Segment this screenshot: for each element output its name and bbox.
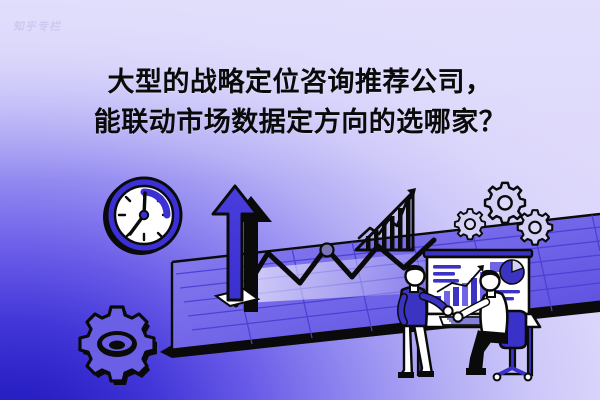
large-gear — [80, 307, 157, 385]
wall-clock — [103, 178, 181, 255]
board-pie-chart — [500, 260, 524, 284]
illustration-stage — [0, 0, 600, 400]
bar-chart-with-trend — [356, 188, 416, 250]
poster-root: 知乎专栏 大型的战略定位咨询推荐公司， 能联动市场数据定方向的选哪家？ — [0, 0, 600, 400]
data-point-marker — [321, 244, 334, 257]
